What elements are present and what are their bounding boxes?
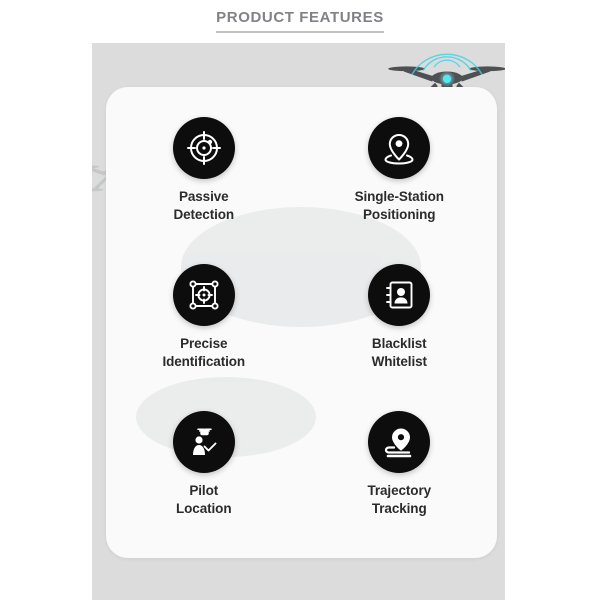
pin-path-icon: [368, 411, 430, 473]
page-header: PRODUCT FEATURES: [0, 0, 600, 43]
feature-label: Single-Station Positioning: [355, 188, 444, 224]
feature-pilot-location[interactable]: Pilot Location: [119, 411, 289, 518]
feature-blacklist-whitelist[interactable]: Blacklist Whitelist: [314, 264, 484, 371]
pilot-drone-operator-icon: [173, 411, 235, 473]
target-bracket-icon: [173, 264, 235, 326]
page-title: PRODUCT FEATURES: [216, 10, 384, 33]
feature-label: Trajectory Tracking: [367, 482, 431, 518]
feature-passive-detection[interactable]: Passive Detection: [119, 117, 289, 224]
feature-grid: Passive Detection Single-Station Positio…: [106, 87, 497, 558]
feature-label: Blacklist Whitelist: [372, 335, 427, 371]
feature-label: Passive Detection: [173, 188, 234, 224]
feature-label: Precise Identification: [162, 335, 245, 371]
radar-target-icon: [173, 117, 235, 179]
contact-book-icon: [368, 264, 430, 326]
feature-label: Pilot Location: [176, 482, 231, 518]
feature-trajectory-tracking[interactable]: Trajectory Tracking: [314, 411, 484, 518]
feature-precise-identification[interactable]: Precise Identification: [119, 264, 289, 371]
location-pin-icon: [368, 117, 430, 179]
feature-single-station-positioning[interactable]: Single-Station Positioning: [314, 117, 484, 224]
